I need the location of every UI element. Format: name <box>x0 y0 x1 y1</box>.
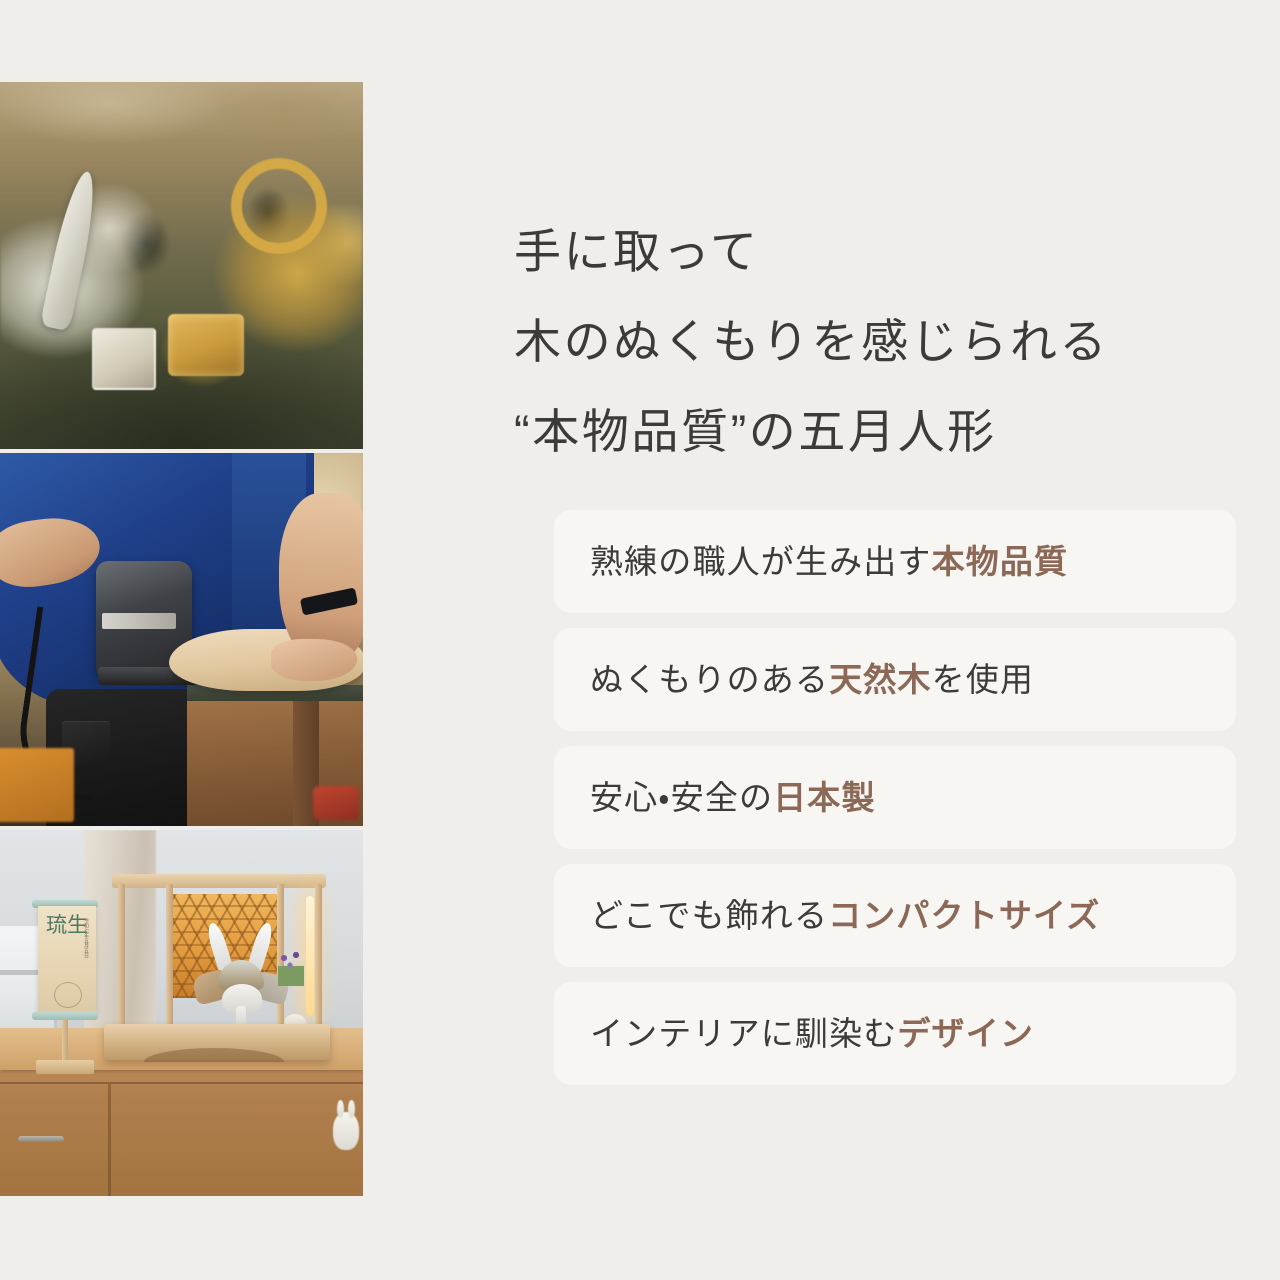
feature-prefix: ぬくもりのある <box>590 661 829 698</box>
case-post-far-right <box>315 884 322 1030</box>
craftsman-right-arm <box>279 493 363 663</box>
feature-accent: 日本製 <box>773 779 875 816</box>
armor-gold-ornament-shape <box>168 314 244 376</box>
feature-prefix: 安心・安全の <box>590 779 773 816</box>
landing-page: 琉生 令和七年五月五日 <box>0 0 1280 1280</box>
case-post-mid <box>166 884 173 1030</box>
red-object-background <box>313 786 359 820</box>
feature-text: インテリアに馴染むデザイン <box>590 1017 1034 1050</box>
feature-accent: デザイン <box>897 1015 1034 1052</box>
case-light-strip <box>306 896 314 1016</box>
feature-prefix: どこでも飾れる <box>590 897 828 934</box>
armor-blade-shape <box>40 169 103 332</box>
photo-armor-parts-workbench <box>0 82 363 449</box>
bunny-figurine <box>333 1112 359 1150</box>
helmet-cord <box>222 984 262 1014</box>
photo-craftsman-sanding-wood <box>0 453 363 827</box>
feature-text: ぬくもりのある天然木を使用 <box>590 663 1034 696</box>
feature-prefix: インテリアに馴染む <box>590 1015 897 1052</box>
feature-item: 熟練の職人が生み出す本物品質 <box>554 510 1236 613</box>
dresser-drawer-handle <box>18 1136 64 1142</box>
feature-item: 安心・安全の日本製 <box>554 746 1236 849</box>
banner-date-text: 令和七年五月五日 <box>83 918 89 958</box>
name-banner: 琉生 令和七年五月五日 <box>36 882 94 1042</box>
wooden-display-case <box>108 874 330 1060</box>
feature-prefix: 熟練の職人が生み出す <box>590 543 932 580</box>
feature-text: 熟練の職人が生み出す本物品質 <box>590 545 1068 578</box>
banner-bottom-bar <box>32 1012 98 1020</box>
case-base <box>104 1024 330 1060</box>
photo-column: 琉生 令和七年五月五日 <box>0 82 363 1196</box>
purple-flowers <box>278 952 304 986</box>
dresser-drawer-line <box>0 1082 363 1084</box>
banner-stand-foot <box>36 1060 94 1074</box>
orange-crate <box>0 748 74 822</box>
feature-accent: コンパクトサイズ <box>828 897 1100 934</box>
armor-silver-box-shape <box>92 328 156 390</box>
feature-item: ぬくもりのある天然木を使用 <box>554 628 1236 731</box>
photo-display-case-in-room: 琉生 令和七年五月五日 <box>0 830 363 1196</box>
headline-line-2: 木のぬくもりを感じられる <box>514 297 1202 387</box>
feature-accent: 天然木 <box>829 661 931 698</box>
headline-line-3: “本物品質”の五月人形 <box>514 387 1202 477</box>
feature-suffix: を使用 <box>932 661 1034 698</box>
feature-text: どこでも飾れるコンパクトサイズ <box>590 899 1100 932</box>
content-column: 手に取って 木のぬくもりを感じられる “本物品質”の五月人形 熟練の職人が生み出… <box>514 0 1202 1280</box>
craftsman-right-hand <box>271 639 357 681</box>
feature-item: どこでも飾れるコンパクトサイズ <box>554 864 1236 967</box>
headline-line-1: 手に取って <box>514 207 1202 297</box>
page-title: 手に取って 木のぬくもりを感じられる “本物品質”の五月人形 <box>514 207 1202 477</box>
feature-item: インテリアに馴染むデザイン <box>554 982 1236 1085</box>
banner-cloth: 琉生 令和七年五月五日 <box>38 906 96 1014</box>
armor-gold-ring-shape <box>231 158 327 254</box>
dresser-drawer-divider <box>108 1084 111 1196</box>
feature-list: 熟練の職人が生み出す本物品質ぬくもりのある天然木を使用安心・安全の日本製どこでも… <box>514 510 1236 1085</box>
case-post-left <box>118 884 125 1030</box>
case-roof <box>112 874 326 888</box>
banner-seal-stamp <box>54 982 82 1008</box>
kabuto-helmet <box>200 922 280 1006</box>
feature-accent: 本物品質 <box>932 543 1069 580</box>
feature-text: 安心・安全の日本製 <box>590 781 876 814</box>
